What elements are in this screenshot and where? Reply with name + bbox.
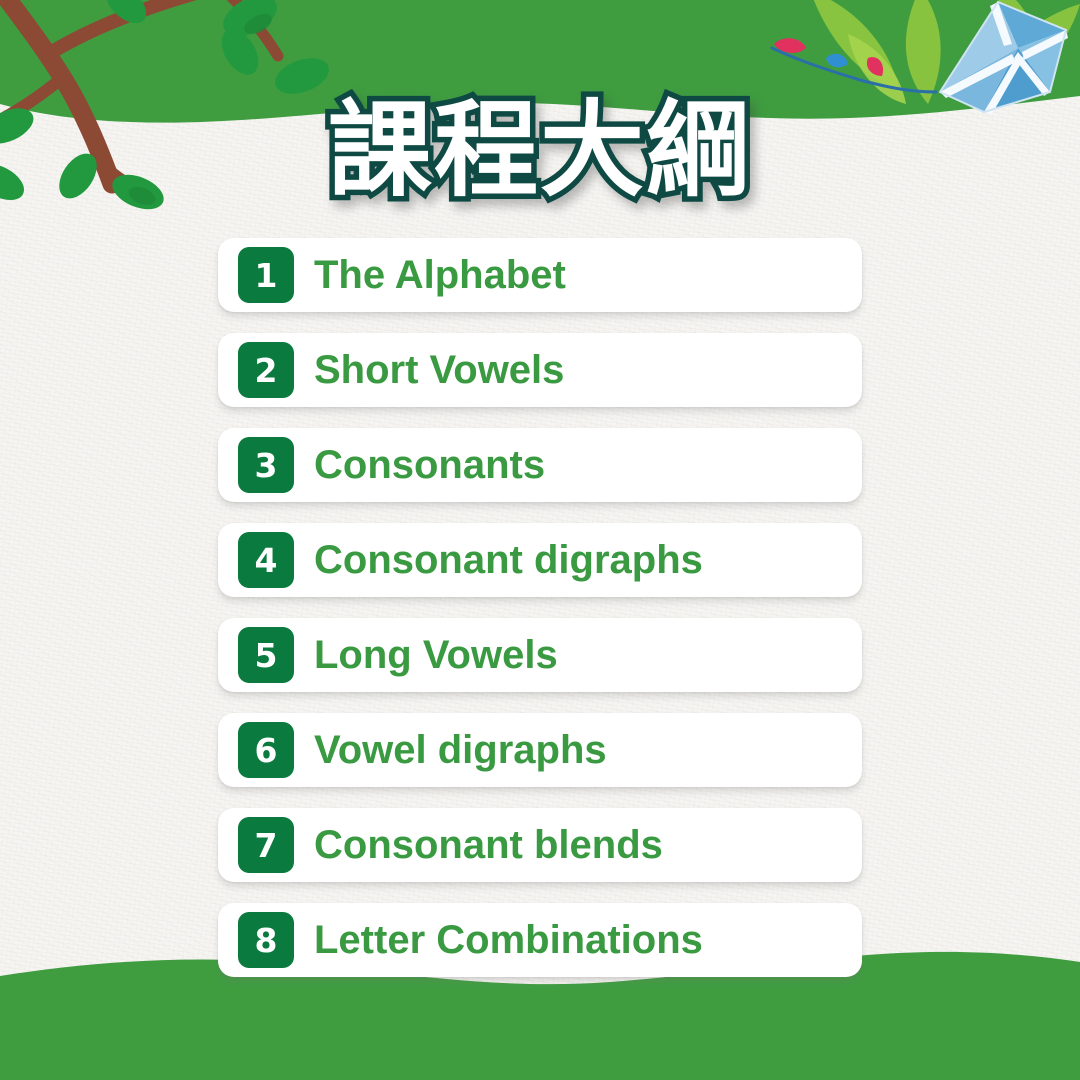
outline-item-6[interactable]: 6Vowel digraphs: [218, 713, 862, 787]
course-outline-list: 1The Alphabet2Short Vowels3Consonants4Co…: [218, 238, 862, 977]
outline-item-label: Vowel digraphs: [314, 730, 607, 770]
outline-item-number-badge: 6: [238, 722, 294, 778]
outline-item-number-badge: 3: [238, 437, 294, 493]
outline-item-label: Consonant blends: [314, 825, 663, 865]
outline-item-label: Letter Combinations: [314, 920, 703, 960]
outline-item-2[interactable]: 2Short Vowels: [218, 333, 862, 407]
outline-item-number-badge: 5: [238, 627, 294, 683]
outline-item-label: Consonants: [314, 445, 545, 485]
outline-item-number-badge: 1: [238, 247, 294, 303]
page-title: 課程大綱: [328, 96, 752, 205]
outline-item-number-badge: 8: [238, 912, 294, 968]
outline-item-4[interactable]: 4Consonant digraphs: [218, 523, 862, 597]
outline-item-label: The Alphabet: [314, 255, 566, 295]
outline-item-1[interactable]: 1The Alphabet: [218, 238, 862, 312]
outline-item-label: Long Vowels: [314, 635, 558, 675]
outline-item-3[interactable]: 3Consonants: [218, 428, 862, 502]
page-title-container: 課程大綱: [0, 96, 1080, 205]
poster-canvas: 課程大綱 1The Alphabet2Short Vowels3Consonan…: [0, 0, 1080, 1080]
outline-item-8[interactable]: 8Letter Combinations: [218, 903, 862, 977]
outline-item-label: Short Vowels: [314, 350, 564, 390]
outline-item-number-badge: 7: [238, 817, 294, 873]
outline-item-label: Consonant digraphs: [314, 540, 703, 580]
outline-item-number-badge: 4: [238, 532, 294, 588]
outline-item-number-badge: 2: [238, 342, 294, 398]
outline-item-5[interactable]: 5Long Vowels: [218, 618, 862, 692]
outline-item-7[interactable]: 7Consonant blends: [218, 808, 862, 882]
